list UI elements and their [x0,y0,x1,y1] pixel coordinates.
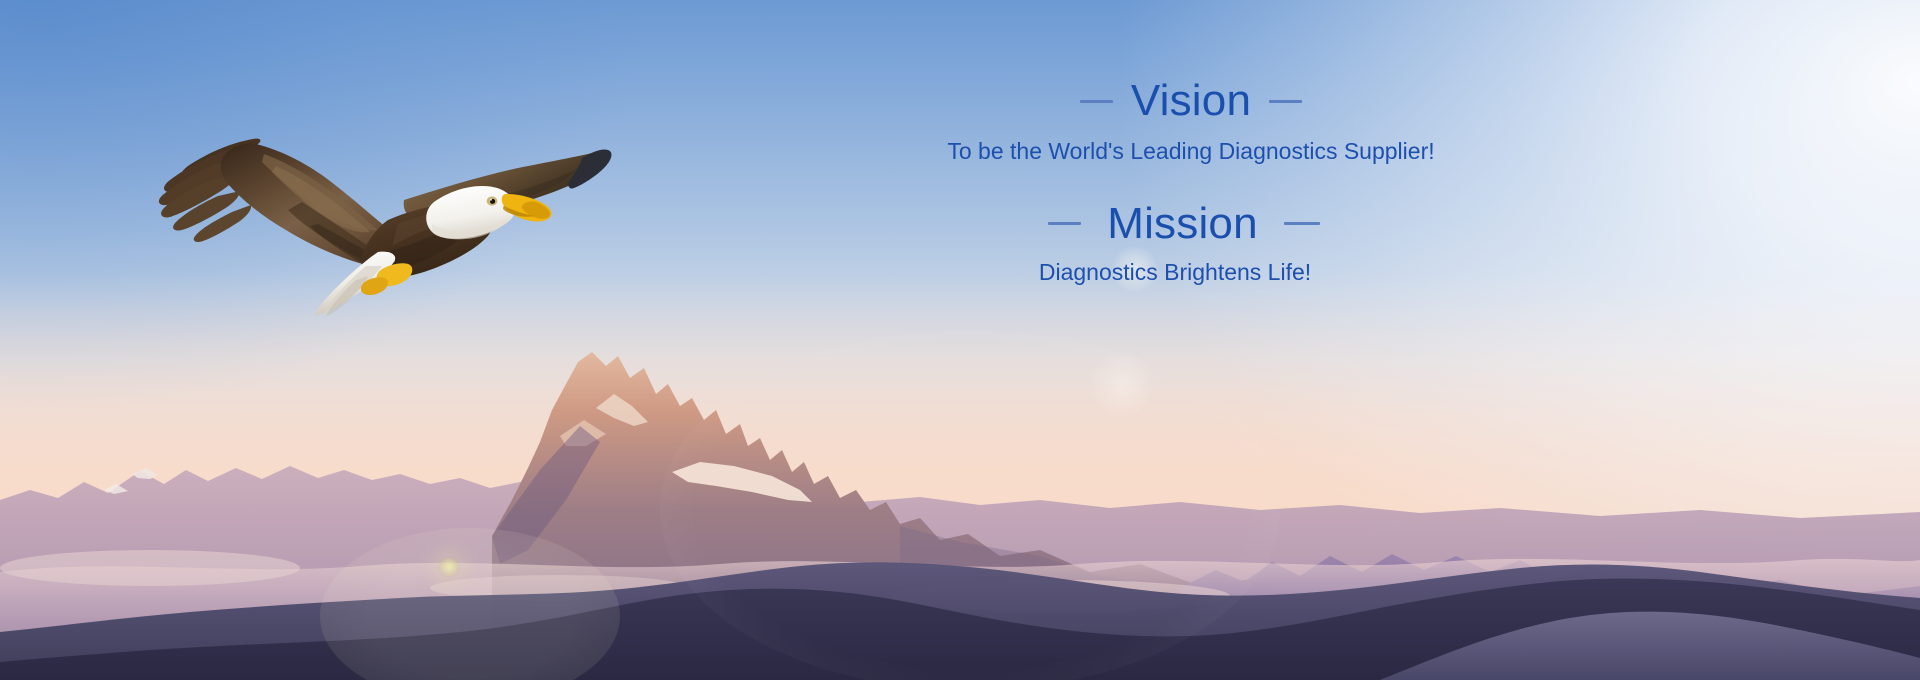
vision-heading-row: Vision [897,78,1485,125]
vision-right-rule-icon [1269,100,1302,103]
vision-tagline: To be the World's Leading Diagnostics Su… [897,137,1485,167]
mission-left-rule-icon [1048,222,1081,225]
vision-mission-copy: Vision To be the World's Leading Diagnos… [905,78,1485,288]
eagle-image [152,128,632,318]
mountain-range [0,350,1920,680]
mission-tagline: Diagnostics Brightens Life! [865,258,1485,288]
mission-heading: Mission [1107,201,1258,248]
mission-right-rule-icon [1284,222,1320,225]
vision-mission-banner: Vision To be the World's Leading Diagnos… [0,0,1920,680]
vision-block: Vision To be the World's Leading Diagnos… [897,78,1485,167]
vision-left-rule-icon [1080,100,1113,103]
mission-block: Mission Diagnostics Brightens Life! [883,201,1485,289]
bald-eagle-illustration [152,128,632,318]
vision-heading: Vision [1131,78,1251,125]
mission-heading-row: Mission [883,201,1485,248]
mountain-silhouettes [0,350,1920,680]
eagle-eye [487,196,498,205]
